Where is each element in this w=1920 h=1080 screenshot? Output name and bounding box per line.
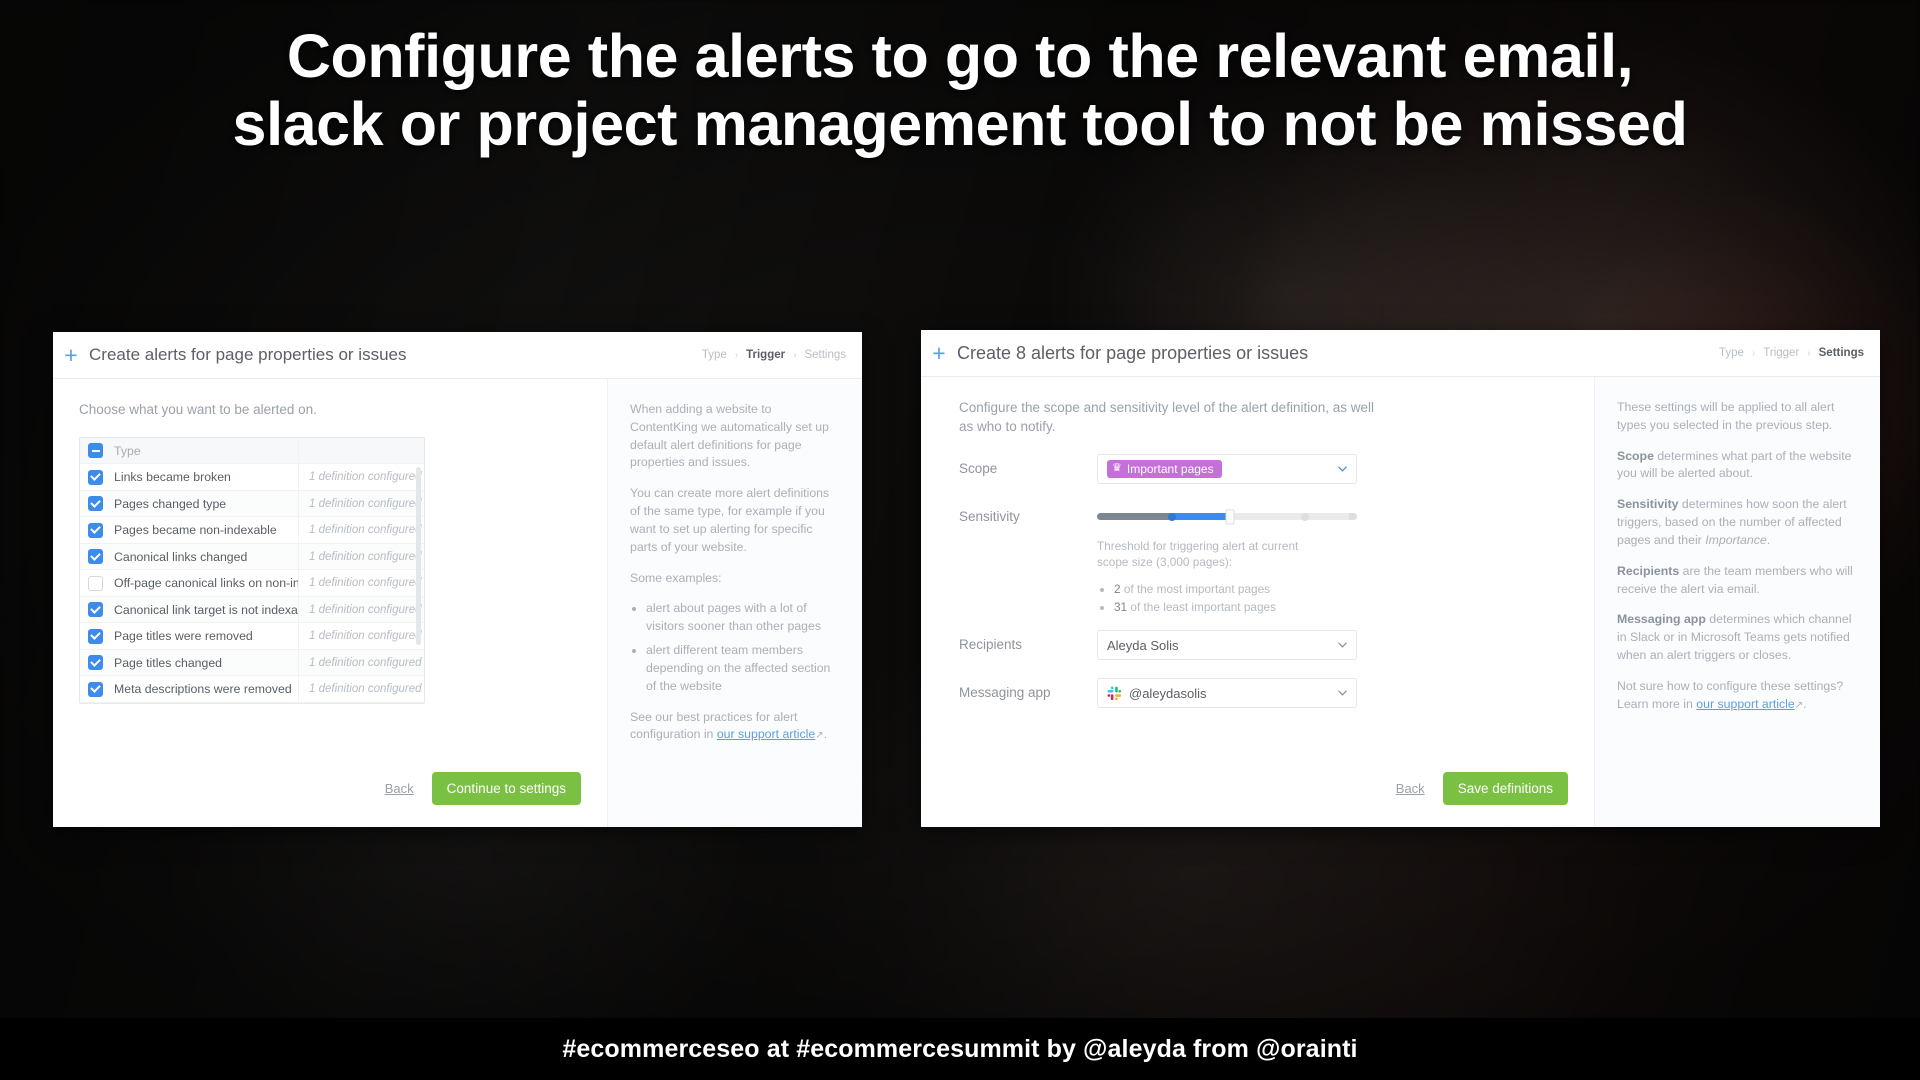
crown-icon: ♛ [1112,463,1122,474]
row-meta: 1 definition configured [298,544,424,570]
row-meta: 1 definition configured [298,676,424,702]
table-row[interactable]: Meta descriptions were removed 1 definit… [80,676,424,703]
alert-type-table: Type Links became broken 1 definition co… [79,437,425,704]
recipients-row: Recipients Aleyda Solis [959,630,1568,660]
slider-tick [1301,513,1309,521]
chevron-down-icon [1338,641,1347,650]
right-panel-help-sidebar: These settings will be applied to all al… [1594,377,1880,827]
help-paragraph-6-suffix: . [1803,697,1806,711]
slide-footer-bar: #ecommerceseo at #ecommercesummit by @al… [0,1018,1920,1080]
row-label: Pages became non-indexable [114,523,298,537]
help-paragraph-6: Not sure how to configure these settings… [1617,678,1858,714]
back-button[interactable]: Back [1396,781,1425,796]
slider-handle[interactable] [1225,509,1234,524]
help-term-importance: Importance [1705,533,1767,547]
table-row[interactable]: Pages became non-indexable 1 definition … [80,517,424,544]
footer-credit-text: #ecommerceseo at #ecommercesummit by @al… [562,1035,1357,1064]
threshold-item: 2 of the most important pages [1114,580,1357,598]
recipients-label: Recipients [959,630,1097,652]
right-panel-title: Create 8 alerts for page properties or i… [957,343,1308,364]
row-label: Off-page canonical links on non-inde... [114,576,298,590]
right-screenshot-panel: + Create 8 alerts for page properties or… [921,330,1880,827]
breadcrumb-step-trigger[interactable]: Trigger [746,349,785,361]
slider-track-end [1349,513,1357,520]
recipients-value: Aleyda Solis [1107,638,1179,653]
row-label: Page titles were removed [114,629,298,643]
help-bullet-item: alert different team members depending o… [646,642,840,695]
external-link-icon: ↗ [815,730,823,741]
help-paragraph-4: Recipients are the team members who will… [1617,563,1858,599]
left-intro-text: Choose what you want to be alerted on. [79,401,581,420]
slider-tick-active [1168,513,1176,521]
table-row[interactable]: Canonical link target is not indexable 1… [80,597,424,624]
breadcrumb-step-settings[interactable]: Settings [1819,347,1864,359]
sensitivity-row: Sensitivity Threshold for triggering ale… [959,502,1568,617]
row-checkbox[interactable] [88,682,103,697]
row-checkbox[interactable] [88,629,103,644]
slider-fill-dark [1097,513,1172,520]
right-panel-actions: Back Save definitions [1396,772,1568,805]
slide-title-line-2: slack or project management tool to not … [20,94,1900,155]
help-paragraph-1: These settings will be applied to all al… [1617,399,1858,435]
right-panel-main: Configure the scope and sensitivity leve… [921,377,1594,827]
row-checkbox[interactable] [88,602,103,617]
help-paragraph-2: Scope determines what part of the websit… [1617,448,1858,484]
messaging-app-value: @aleydasolis [1129,686,1207,701]
help-paragraph-4: See our best practices for alert configu… [630,709,840,745]
scope-row: Scope ♛ Important pages [959,454,1568,484]
help-term-recipients: Recipients [1617,564,1679,578]
right-panel-body: Configure the scope and sensitivity leve… [921,377,1880,827]
back-button[interactable]: Back [385,781,414,796]
slider-fill-blue [1172,513,1229,520]
row-label: Page titles changed [114,656,298,670]
row-label: Pages changed type [114,497,298,511]
left-panel-body: Choose what you want to be alerted on. T… [53,379,862,827]
help-term-scope: Scope [1617,449,1654,463]
chevron-right-icon: › [793,350,796,361]
table-row[interactable]: Links became broken 1 definition configu… [80,464,424,491]
left-panel-title: Create alerts for page properties or iss… [89,345,407,365]
breadcrumb-step-type[interactable]: Type [702,349,727,361]
slider-track[interactable] [1097,513,1357,520]
messaging-app-row: Messaging app @aleydas [959,678,1568,708]
scope-select[interactable]: ♛ Important pages [1097,454,1357,484]
help-paragraph-3: Some examples: [630,570,840,588]
breadcrumb-step-trigger[interactable]: Trigger [1763,347,1799,359]
left-panel-header: + Create alerts for page properties or i… [53,332,862,379]
row-label: Meta descriptions were removed [114,682,298,696]
right-breadcrumb: Type › Trigger › Settings [1719,347,1864,359]
threshold-item: 31 of the least important pages [1114,598,1357,616]
help-term-sensitivity: Sensitivity [1617,497,1679,511]
row-label: Links became broken [114,470,298,484]
help-paragraph-3: Sensitivity determines how soon the aler… [1617,496,1858,549]
sensitivity-label: Sensitivity [959,502,1097,524]
table-row[interactable]: Off-page canonical links on non-inde... … [80,570,424,597]
help-paragraph-1: When adding a website to ContentKing we … [630,401,840,472]
help-bullet-list: alert about pages with a lot of visitors… [646,600,840,695]
threshold-text: of the least important pages [1127,600,1276,614]
messaging-app-label: Messaging app [959,678,1097,700]
row-checkbox[interactable] [88,655,103,670]
row-checkbox[interactable] [88,523,103,538]
row-checkbox[interactable] [88,470,103,485]
threshold-note: Threshold for triggering alert at curren… [1097,538,1322,571]
chevron-right-icon: › [1807,348,1810,359]
chevron-down-icon [1338,689,1347,698]
help-paragraph-5: Messaging app determines which channel i… [1617,611,1858,664]
row-meta: 1 definition configured [298,597,424,623]
right-intro-text: Configure the scope and sensitivity leve… [959,399,1389,437]
table-row[interactable]: Pages changed type 1 definition configur… [80,491,424,518]
external-link-icon: ↗ [1795,700,1803,711]
left-screenshot-panel: + Create alerts for page properties or i… [53,332,862,827]
row-meta: 1 definition configured [298,464,424,490]
breadcrumb-step-type[interactable]: Type [1719,347,1744,359]
messaging-app-select[interactable]: @aleydasolis [1097,678,1357,708]
chevron-right-icon: › [735,350,738,361]
left-panel-main: Choose what you want to be alerted on. T… [53,379,607,827]
recipients-select[interactable]: Aleyda Solis [1097,630,1357,660]
scope-control: ♛ Important pages [1097,454,1357,484]
row-meta: 1 definition configured [298,491,424,517]
threshold-text: of the most important pages [1121,582,1271,596]
table-scrollbar[interactable] [416,467,421,645]
help-paragraph-3-suffix: . [1767,533,1770,547]
chevron-right-icon: › [1752,348,1755,359]
slack-icon [1107,686,1122,701]
select-all-checkbox[interactable] [88,443,103,458]
left-panel-actions: Back Continue to settings [385,772,581,805]
threshold-count: 31 [1114,600,1127,614]
continue-to-settings-button[interactable]: Continue to settings [432,772,581,805]
messaging-app-control: @aleydasolis [1097,678,1357,708]
table-row[interactable]: Canonical links changed 1 definition con… [80,544,424,571]
chevron-down-icon [1338,464,1347,473]
row-meta: 1 definition configured [298,570,424,596]
table-row[interactable]: Page titles changed 1 definition configu… [80,650,424,677]
scope-pill: ♛ Important pages [1107,460,1222,478]
row-label: Canonical link target is not indexable [114,603,298,617]
breadcrumb-step-settings[interactable]: Settings [804,349,846,361]
right-panel-header: + Create 8 alerts for page properties or… [921,330,1880,377]
row-checkbox[interactable] [88,496,103,511]
row-meta: 1 definition configured [298,650,424,676]
help-paragraph-2: You can create more alert definitions of… [630,485,840,556]
column-header-definitions [298,438,424,464]
sensitivity-control: Threshold for triggering alert at curren… [1097,502,1357,617]
help-term-messaging-app: Messaging app [1617,612,1706,626]
row-label: Canonical links changed [114,550,298,564]
plus-icon[interactable]: + [921,342,957,365]
support-article-link[interactable]: our support article [1696,697,1794,711]
slide-title: Configure the alerts to go to the releva… [0,26,1920,155]
row-checkbox[interactable] [88,576,103,591]
scope-value: Important pages [1127,462,1214,476]
table-header-row: Type [80,438,424,465]
row-meta: 1 definition configured [298,517,424,543]
recipients-control: Aleyda Solis [1097,630,1357,660]
left-panel-help-sidebar: When adding a website to ContentKing we … [607,379,862,827]
help-bullet-item: alert about pages with a lot of visitors… [646,600,840,636]
sensitivity-slider[interactable] [1097,502,1357,532]
threshold-list: 2 of the most important pages 31 of the … [1114,580,1357,617]
column-header-type: Type [114,444,298,458]
left-breadcrumb: Type › Trigger › Settings [702,349,846,361]
save-definitions-button[interactable]: Save definitions [1443,772,1568,805]
slide-title-line-1: Configure the alerts to go to the releva… [20,26,1900,87]
scope-label: Scope [959,454,1097,476]
row-checkbox[interactable] [88,549,103,564]
support-article-link[interactable]: our support article [717,727,815,741]
plus-icon[interactable]: + [53,344,89,367]
row-meta: 1 definition configured [298,623,424,649]
table-row[interactable]: Page titles were removed 1 definition co… [80,623,424,650]
help-paragraph-4-suffix: . [824,727,827,741]
